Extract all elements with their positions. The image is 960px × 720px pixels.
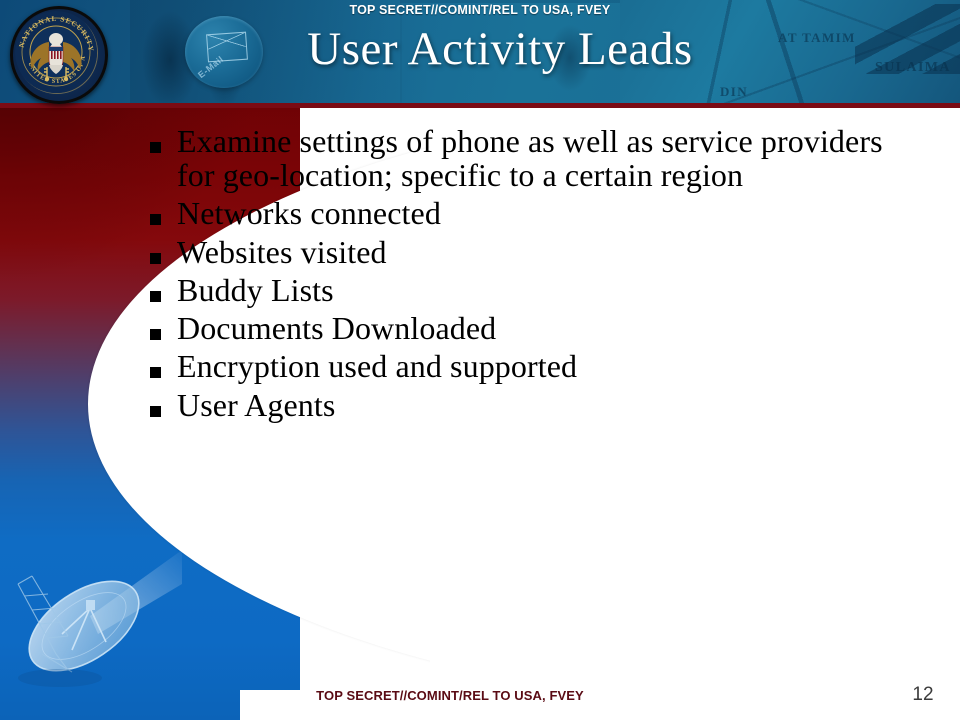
slide-header-banner: AT TAMIM SULAIMA DIN E-Mail TOP SECRET//…	[0, 0, 960, 103]
page-number: 12	[900, 684, 946, 706]
list-item: Buddy Lists	[150, 273, 940, 307]
map-label-sulaimaniya: SULAIMA	[875, 60, 951, 76]
footer-classification-banner: TOP SECRET//COMINT/REL TO USA, FVEY	[0, 688, 900, 703]
header-classification-banner: TOP SECRET//COMINT/REL TO USA, FVEY	[0, 3, 960, 17]
page-title: User Activity Leads	[150, 22, 850, 76]
bullet-square-icon	[150, 142, 161, 153]
bullet-square-icon	[150, 214, 161, 225]
list-item-label: Examine settings of phone as well as ser…	[177, 124, 940, 192]
satellite-dish-graphic	[2, 550, 182, 700]
header-divider-rule	[0, 103, 960, 108]
list-item-label: Buddy Lists	[177, 273, 940, 307]
list-item-label: Encryption used and supported	[177, 349, 940, 383]
list-item: Networks connected	[150, 196, 940, 230]
bullet-square-icon	[150, 329, 161, 340]
list-item: Encryption used and supported	[150, 349, 940, 383]
bullet-square-icon	[150, 291, 161, 302]
list-item-label: Websites visited	[177, 235, 940, 269]
bullet-square-icon	[150, 406, 161, 417]
nsa-seal-icon: NATIONAL SECURITY AGENCY UNITED STATES O…	[10, 6, 108, 104]
bullet-square-icon	[150, 367, 161, 378]
list-item-label: User Agents	[177, 388, 940, 422]
list-item: Documents Downloaded	[150, 311, 940, 345]
bullet-square-icon	[150, 253, 161, 264]
list-item-label: Documents Downloaded	[177, 311, 940, 345]
list-item: Examine settings of phone as well as ser…	[150, 124, 940, 192]
list-item-label: Networks connected	[177, 196, 940, 230]
list-item: Websites visited	[150, 235, 940, 269]
slide-canvas: AT TAMIM SULAIMA DIN E-Mail TOP SECRET//…	[0, 0, 960, 720]
list-item: User Agents	[150, 388, 940, 422]
map-label-din: DIN	[720, 84, 748, 100]
bullet-list: Examine settings of phone as well as ser…	[150, 124, 940, 426]
